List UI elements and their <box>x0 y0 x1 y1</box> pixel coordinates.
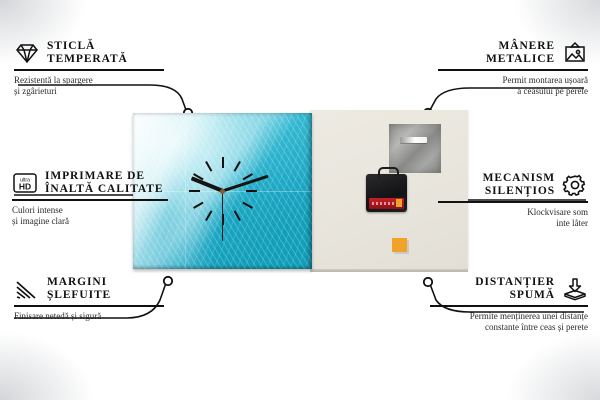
callout-rule <box>438 201 588 203</box>
battery-label-stripe <box>372 202 394 205</box>
ultra-hd-icon: ultra HD <box>12 171 38 195</box>
callout-subtitle-line2: inte låter <box>438 218 588 229</box>
arrow-down-pad-icon <box>562 277 588 301</box>
callout-subtitle-line1: Permit montarea ușoară <box>438 75 588 86</box>
callout-tempered-glass: STICLĂ TEMPERATĂ Rezistentă la spargere … <box>14 40 164 97</box>
callout-title-line1: DISTANȚIER <box>475 276 555 289</box>
callout-title-line1: STICLĂ <box>47 40 128 53</box>
callout-print-quality: ultra HD IMPRIMARE DE ÎNALTĂ CALITATE Cu… <box>12 170 168 227</box>
callout-subtitle-line2: constante între ceas și perete <box>430 322 588 333</box>
callout-foam-spacer: DISTANȚIER SPUMĂ Permite menținerea unei… <box>430 276 588 333</box>
gear-icon <box>562 173 588 197</box>
callout-title-line2: SPUMĂ <box>475 289 555 302</box>
callout-subtitle-line2: și imagine clară <box>12 216 168 227</box>
callout-rule <box>430 305 588 307</box>
callout-title-line2: METALICE <box>486 53 555 66</box>
callout-title-line1: IMPRIMARE DE <box>45 170 163 183</box>
battery <box>369 198 404 209</box>
callout-title-line1: MÂNERE <box>486 40 555 53</box>
framed-picture-hanger-icon <box>562 41 588 65</box>
foam-spacer-pad <box>392 238 407 252</box>
callout-polished-edges: MARGINI ȘLEFUITE Finisare netedă și sigu… <box>14 276 164 322</box>
callout-title-line1: MARGINI <box>47 276 111 289</box>
callout-rule <box>12 199 168 201</box>
diamond-icon <box>14 41 40 65</box>
metal-hanger-plate <box>389 124 441 173</box>
callout-rule <box>438 69 588 71</box>
callout-title-line2: ÎNALTĂ CALITATE <box>45 183 163 196</box>
callout-title-line2: TEMPERATĂ <box>47 53 128 66</box>
callout-subtitle-line2: și zgârieturi <box>14 86 164 97</box>
callout-rule <box>14 305 164 307</box>
diagonal-stripes-icon <box>14 277 40 301</box>
svg-text:HD: HD <box>19 182 31 192</box>
callout-subtitle-line1: Finisare netedă și sigură <box>14 311 164 322</box>
mechanism-hook <box>378 167 399 178</box>
connector-dot-polished-edges <box>164 277 172 285</box>
callout-subtitle-line1: Culori intense <box>12 205 168 216</box>
callout-silent-mechanism: MECANISM SILENȚIOS Klockvisare som inte … <box>438 172 588 229</box>
callout-subtitle-line1: Klockvisare som <box>438 207 588 218</box>
product-image <box>133 110 468 270</box>
callout-title-line2: ȘLEFUITE <box>47 289 111 302</box>
battery-positive-terminal <box>396 199 402 207</box>
infographic-canvas: STICLĂ TEMPERATĂ Rezistentă la spargere … <box>0 0 600 400</box>
callout-subtitle-line1: Rezistentă la spargere <box>14 75 164 86</box>
callout-rule <box>14 69 164 71</box>
callout-title-line1: MECANISM <box>483 172 555 185</box>
hanger-slot <box>400 137 427 143</box>
clock-mechanism <box>366 174 407 212</box>
callout-title-line2: SILENȚIOS <box>483 185 555 198</box>
callout-subtitle-line2: a ceasului pe perete <box>438 86 588 97</box>
callout-subtitle-line1: Permite menținerea unei distanțe <box>430 311 588 322</box>
callout-metal-handles: MÂNERE METALICE Permit montarea ușoară a… <box>438 40 588 97</box>
